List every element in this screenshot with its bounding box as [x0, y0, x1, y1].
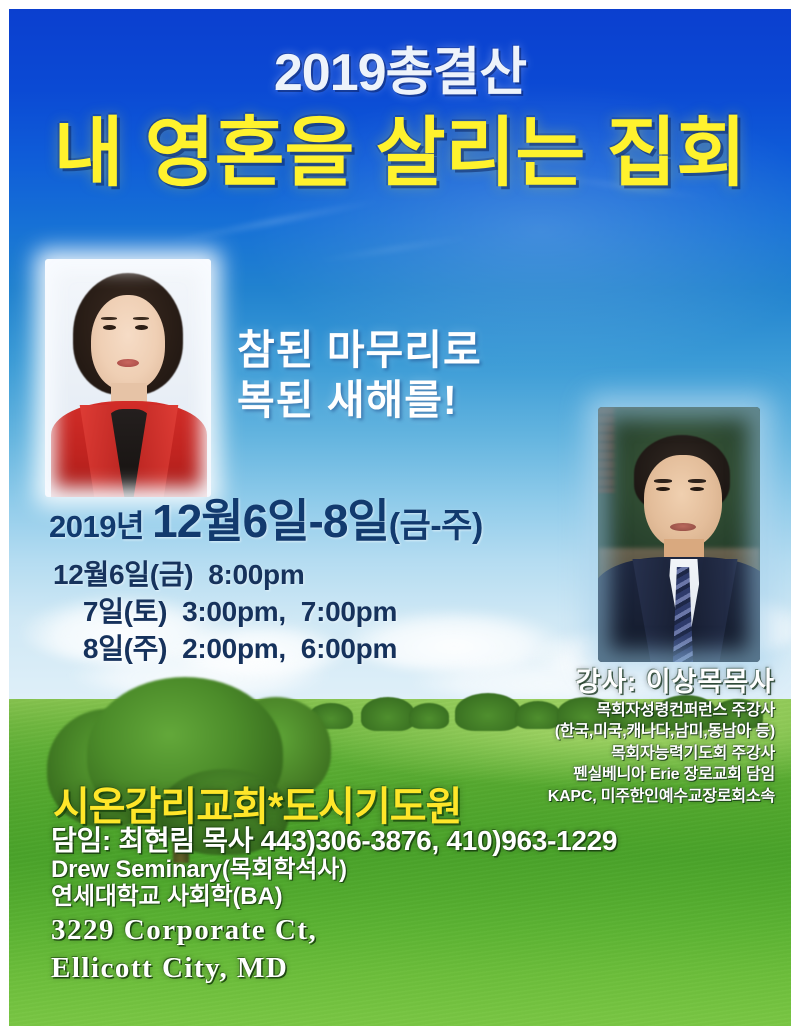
church-name: 시온감리교회*도시기도원 [53, 787, 461, 827]
poster-title: 내 영혼을 살리는 집회 [9, 116, 791, 192]
speaker-info-block: 강사: 이상목목사 목회자성령컨퍼런스 주강사 (한국,미국,캐나다,남미,동남… [548, 669, 775, 807]
speaker-credential-line: (한국,미국,캐나다,남미,동남아 등) [548, 721, 775, 742]
portrait-eye [690, 487, 704, 491]
slogan-line-2: 복된 새해를! [237, 375, 482, 425]
event-date-range: 12월6일-8일 [152, 495, 389, 547]
poster-slogan: 참된 마무리로 복된 새해를! [237, 325, 482, 425]
portrait-eye [135, 325, 148, 330]
schedule-row: 7일(토) 3:00pm, 7:00pm [53, 594, 397, 631]
guest-speaker-photo [598, 407, 760, 662]
portrait-eyebrow [133, 317, 149, 320]
event-schedule: 12월6일(금) 8:00pm 7일(토) 3:00pm, 7:00pm 8일(… [53, 557, 397, 668]
portrait-eye [656, 487, 670, 491]
portrait-eye [103, 325, 116, 330]
speaker-credentials: 목회자성령컨퍼런스 주강사 (한국,미국,캐나다,남미,동남아 등) 목회자능력… [548, 700, 775, 807]
portrait-face [644, 455, 722, 549]
church-address-line: Ellicott City, MD [51, 951, 617, 985]
portrait-eyebrow [101, 317, 117, 320]
portrait-eyebrow [688, 479, 706, 483]
speaker-credential-line: 펜실베니아 Erie 장로교회 담임 [548, 764, 775, 785]
event-weekday-range: (금-주) [389, 507, 483, 545]
church-contact-block: 담임: 최현림 목사 443)306-3876, 410)963-1229 Dr… [51, 827, 617, 986]
horizon-tree [361, 697, 415, 731]
event-date-headline: 2019년 12월6일-8일(금-주) [49, 498, 483, 544]
poster-canvas: 2019총결산 내 영혼을 살리는 집회 참된 마무리로 복된 새해를! [9, 9, 791, 1026]
schedule-row: 12월6일(금) 8:00pm [53, 557, 397, 594]
schedule-row: 8일(주) 2:00pm, 6:00pm [53, 631, 397, 668]
speaker-credential-line: KAPC, 미주한인예수교장로회소속 [548, 786, 775, 807]
speaker-name: 강사: 이상목목사 [548, 669, 775, 696]
horizon-tree [409, 703, 449, 729]
slogan-line-1: 참된 마무리로 [237, 325, 482, 375]
speaker-credential-line: 목회자능력기도회 주강사 [548, 743, 775, 764]
church-address-line: 3229 Corporate Ct, [51, 913, 617, 947]
portrait-eyebrow [654, 479, 672, 483]
horizon-tree [455, 693, 521, 731]
church-pastor-and-phones: 담임: 최현림 목사 443)306-3876, 410)963-1229 [51, 827, 617, 855]
poster-subtitle: 2019총결산 [9, 47, 791, 99]
event-year: 2019년 [49, 509, 152, 544]
pastor-education-line: 연세대학교 사회학(BA) [51, 885, 617, 909]
pastor-education-line: Drew Seminary(목회학석사) [51, 858, 617, 882]
portrait-mouth [117, 359, 139, 367]
event-poster: 2019총결산 내 영혼을 살리는 집회 참된 마무리로 복된 새해를! [0, 0, 800, 1035]
speaker-credential-line: 목회자성령컨퍼런스 주강사 [548, 700, 775, 721]
portrait-mouth [670, 523, 696, 531]
host-pastor-photo [45, 259, 211, 497]
portrait-face [91, 295, 165, 391]
